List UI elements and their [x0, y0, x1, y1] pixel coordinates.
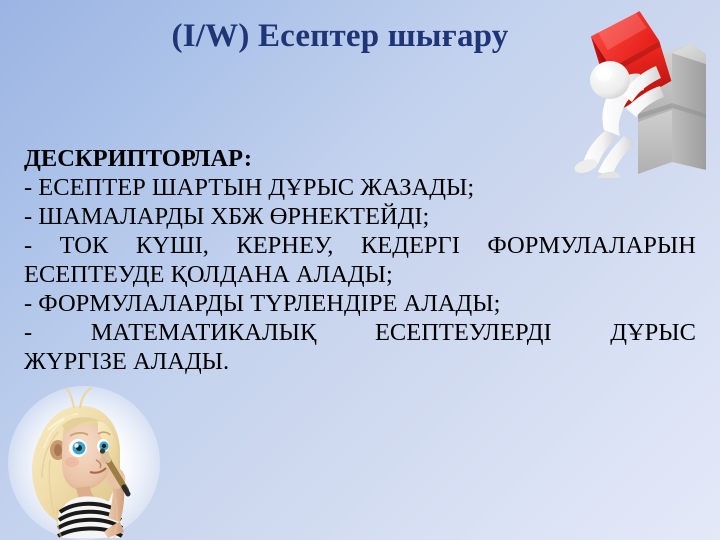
page-title: (I/W) Есептер шығару — [172, 18, 509, 54]
slide-canvas: (I/W) Есептер шығару ДЕСКРИПТОРЛАР: - ЕС… — [0, 0, 720, 540]
descriptor-list: ДЕСКРИПТОРЛАР: - ЕСЕПТЕР ШАРТЫН ДҰРЫС ЖА… — [24, 144, 696, 376]
descriptor-item-5-seg-2: МАТЕМАТИКАЛЫҚ — [91, 318, 317, 347]
title-area: (I/W) Есептер шығару — [0, 18, 680, 54]
descriptor-item-3-seg-1: - — [24, 231, 32, 260]
descriptor-item-5-seg-1: - — [24, 318, 32, 347]
descriptor-heading: ДЕСКРИПТОРЛАР: — [24, 144, 696, 173]
descriptor-item-3-continued: ЕСЕПТЕУДЕ ҚОЛДАНА АЛАДЫ; — [24, 260, 696, 289]
girl-with-pencil-image — [8, 386, 160, 540]
descriptor-item-3-seg-5: КЕДЕРГІ — [361, 231, 460, 260]
descriptor-item-1: - ЕСЕПТЕР ШАРТЫН ДҰРЫС ЖАЗАДЫ; — [24, 173, 696, 202]
descriptor-item-3: - ТОК КҮШІ, КЕРНЕУ, КЕДЕРГІ ФОРМУЛАЛАРЫН — [24, 231, 696, 260]
descriptor-item-4: - ФОРМУЛАЛАРДЫ ТҮРЛЕНДІРЕ АЛАДЫ; — [24, 289, 696, 318]
descriptor-item-5-seg-3: ЕСЕПТЕУЛЕРДІ — [375, 318, 552, 347]
descriptor-item-5-continued: ЖҮРГІЗЕ АЛАДЫ. — [24, 347, 696, 376]
descriptor-item-3-seg-4: КЕРНЕУ, — [236, 231, 333, 260]
descriptor-item-5-seg-4: ДҰРЫС — [610, 318, 696, 347]
descriptor-item-5: - МАТЕМАТИКАЛЫҚ ЕСЕПТЕУЛЕРДІ ДҰРЫС — [24, 318, 696, 347]
descriptor-item-3-seg-3: КҮШІ, — [136, 231, 209, 260]
descriptor-item-2: - ШАМАЛАРДЫ ХБЖ ӨРНЕКТЕЙДІ; — [24, 202, 696, 231]
descriptor-item-3-seg-6: ФОРМУЛАЛАРЫН — [487, 231, 696, 260]
descriptor-item-3-seg-2: ТОК — [60, 231, 109, 260]
